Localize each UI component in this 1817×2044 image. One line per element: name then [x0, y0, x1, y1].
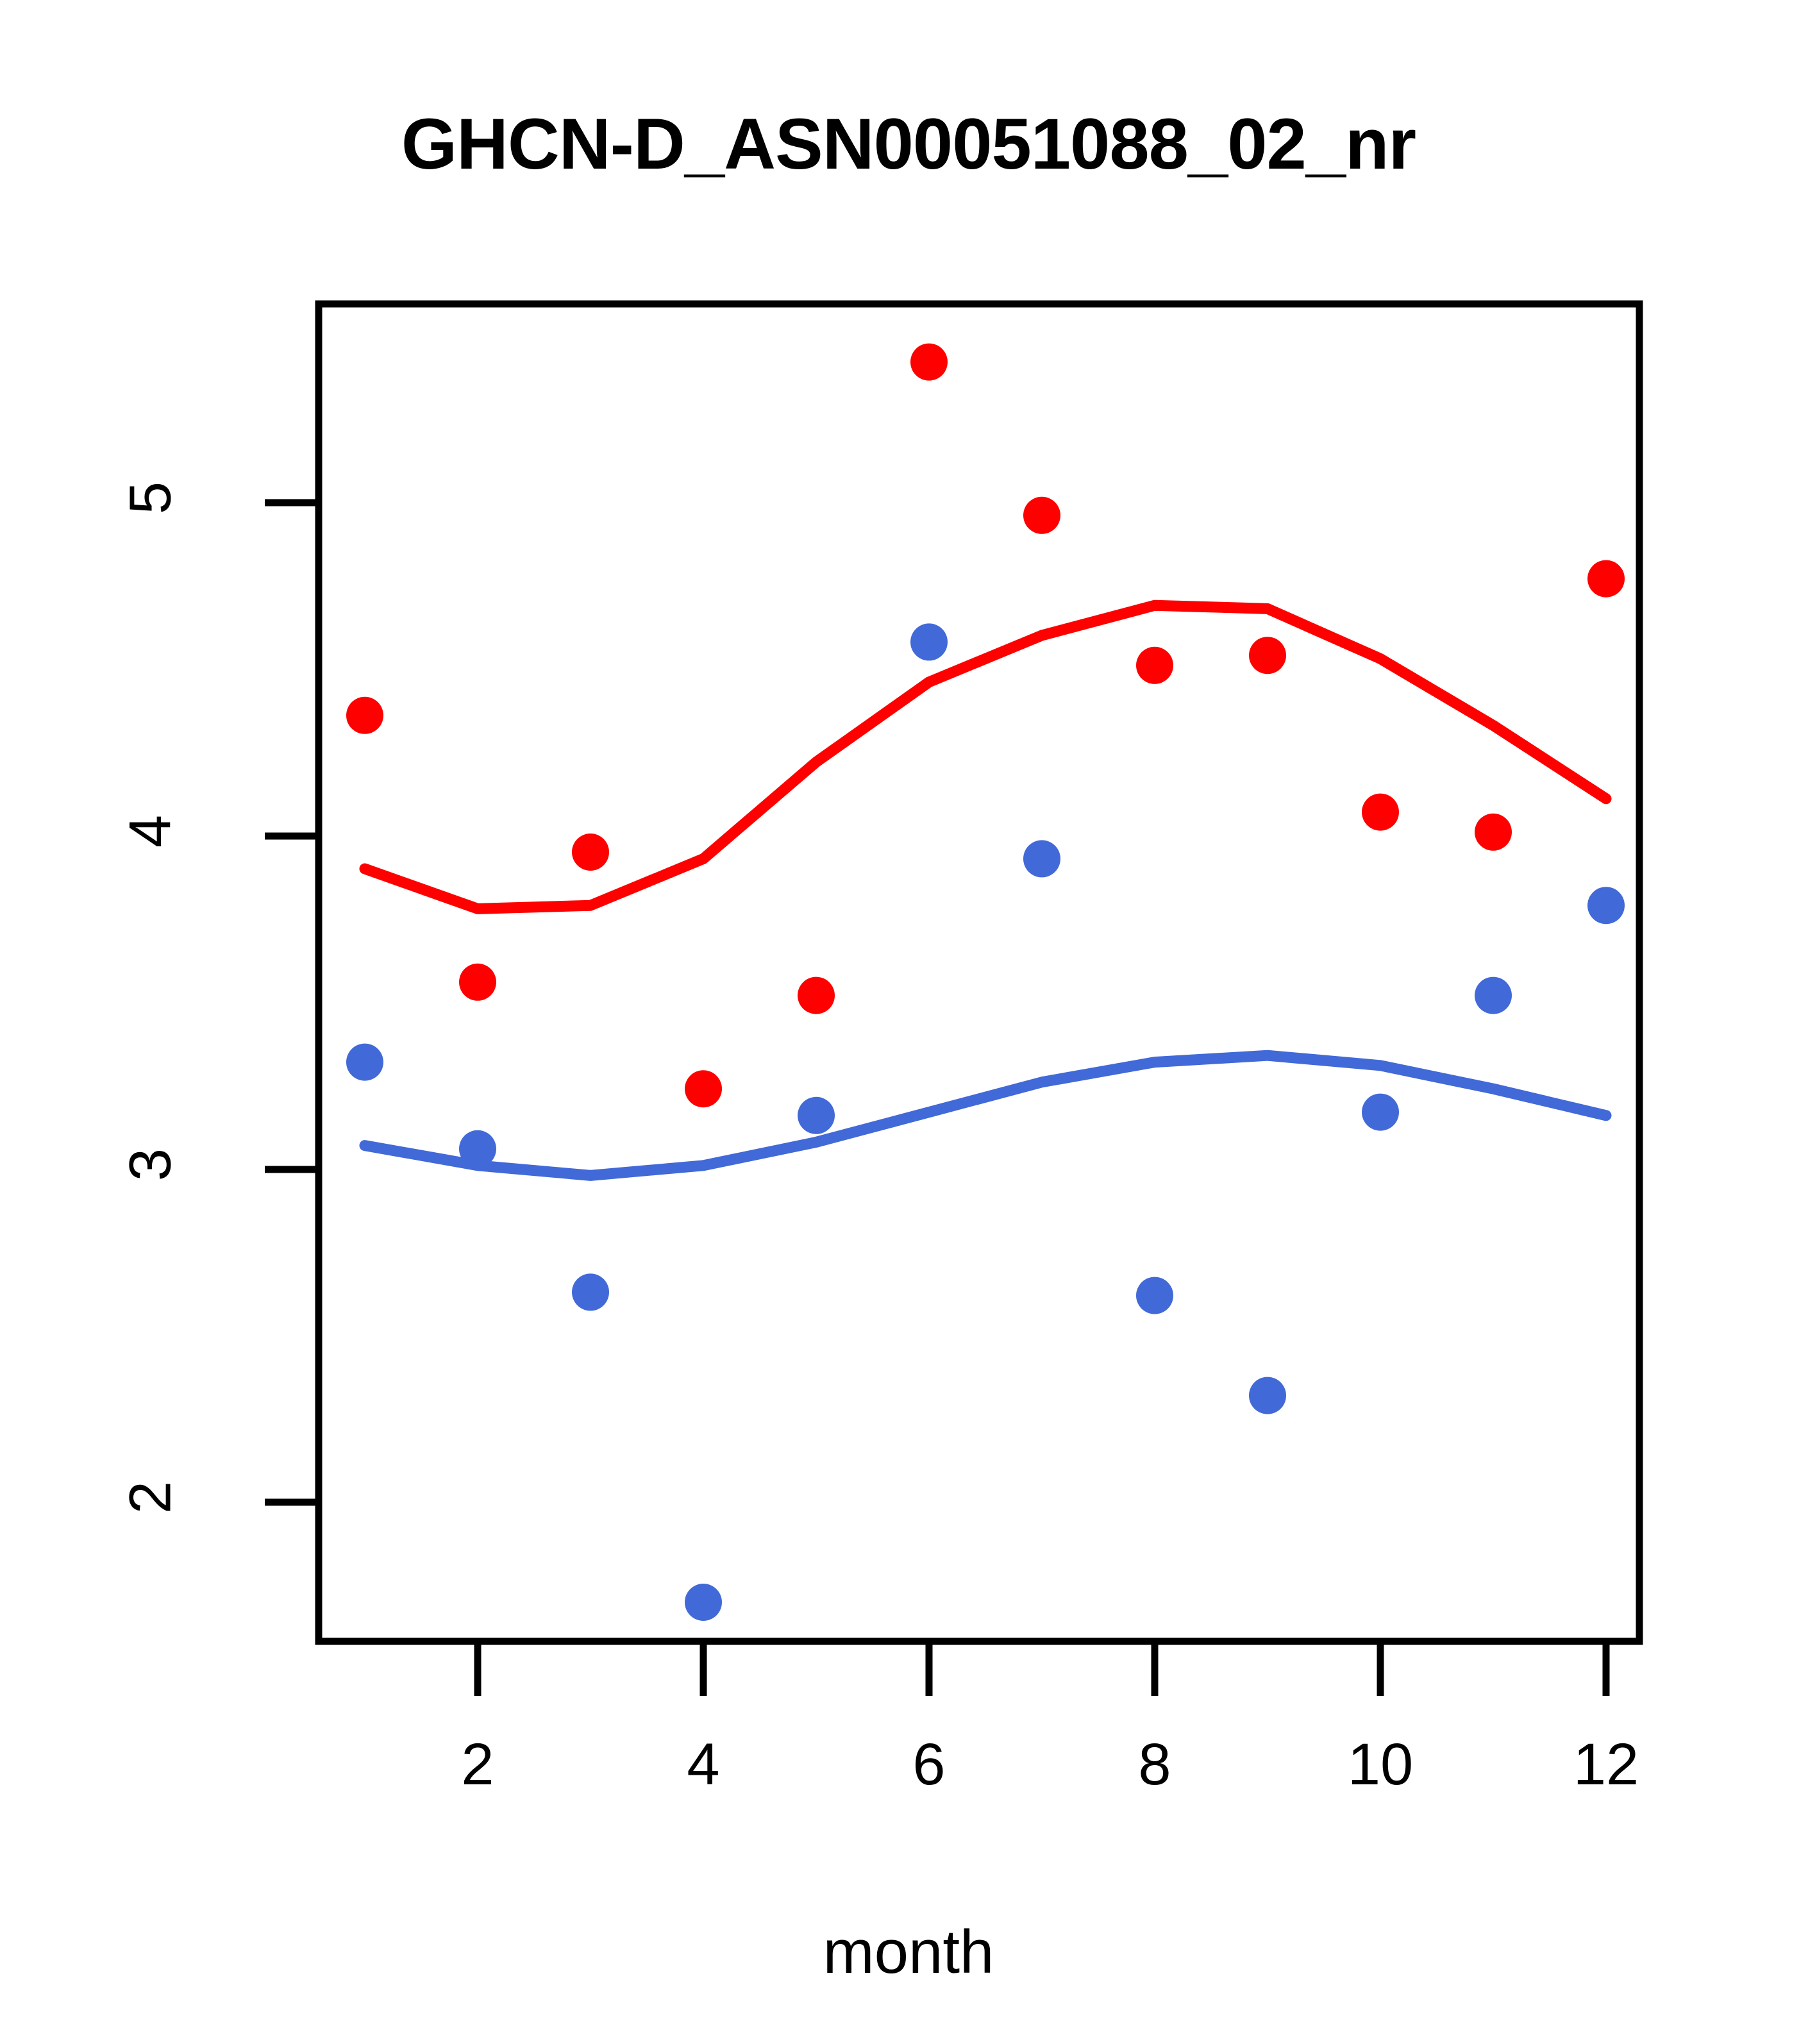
data-point: [1475, 977, 1512, 1014]
data-point: [1362, 1094, 1399, 1131]
data-point: [1475, 814, 1512, 851]
data-point: [572, 1273, 609, 1311]
data-point: [685, 1584, 722, 1621]
x-tick-label-4: 4: [639, 1731, 767, 1798]
y-tick-label-5: 5: [117, 460, 185, 537]
trend-line-red-trend: [365, 605, 1606, 909]
data-point: [346, 697, 383, 734]
data-point: [1249, 1377, 1286, 1414]
x-tick-label-8: 8: [1091, 1731, 1219, 1798]
data-point: [1362, 794, 1399, 831]
data-point: [459, 1130, 496, 1168]
x-tick-label-10: 10: [1316, 1731, 1444, 1798]
data-point: [572, 834, 609, 871]
data-point: [1249, 637, 1286, 674]
x-tick-label-6: 6: [865, 1731, 993, 1798]
data-point: [798, 1097, 835, 1134]
data-point: [1023, 840, 1060, 877]
x-axis-ticks: [478, 1641, 1606, 1696]
x-axis-title: month: [0, 1917, 1817, 1988]
data-point: [1136, 647, 1173, 684]
data-point: [1136, 1277, 1173, 1314]
data-point: [1023, 497, 1060, 534]
y-tick-label-4: 4: [117, 793, 185, 870]
x-tick-label-2: 2: [414, 1731, 542, 1798]
y-tick-label-2: 2: [117, 1459, 185, 1536]
data-point: [346, 1044, 383, 1081]
plot-border: [319, 304, 1639, 1641]
data-point: [910, 344, 948, 381]
data-point: [910, 623, 948, 660]
data-point: [1587, 560, 1625, 598]
x-tick-label-12: 12: [1542, 1731, 1670, 1798]
data-point: [798, 977, 835, 1014]
y-axis-ticks: [265, 503, 319, 1502]
data-point: [1587, 887, 1625, 924]
data-point: [685, 1070, 722, 1107]
data-points-layer: [346, 344, 1625, 1621]
trend-lines-layer: [365, 605, 1606, 1175]
data-point: [459, 964, 496, 1001]
trend-line-blue-trend: [365, 1055, 1606, 1175]
y-tick-label-3: 3: [117, 1127, 185, 1203]
chart-figure: GHCN-D_ASN00051088_02_nr 5 4 3 2 2 4 6 8…: [0, 0, 1817, 2044]
